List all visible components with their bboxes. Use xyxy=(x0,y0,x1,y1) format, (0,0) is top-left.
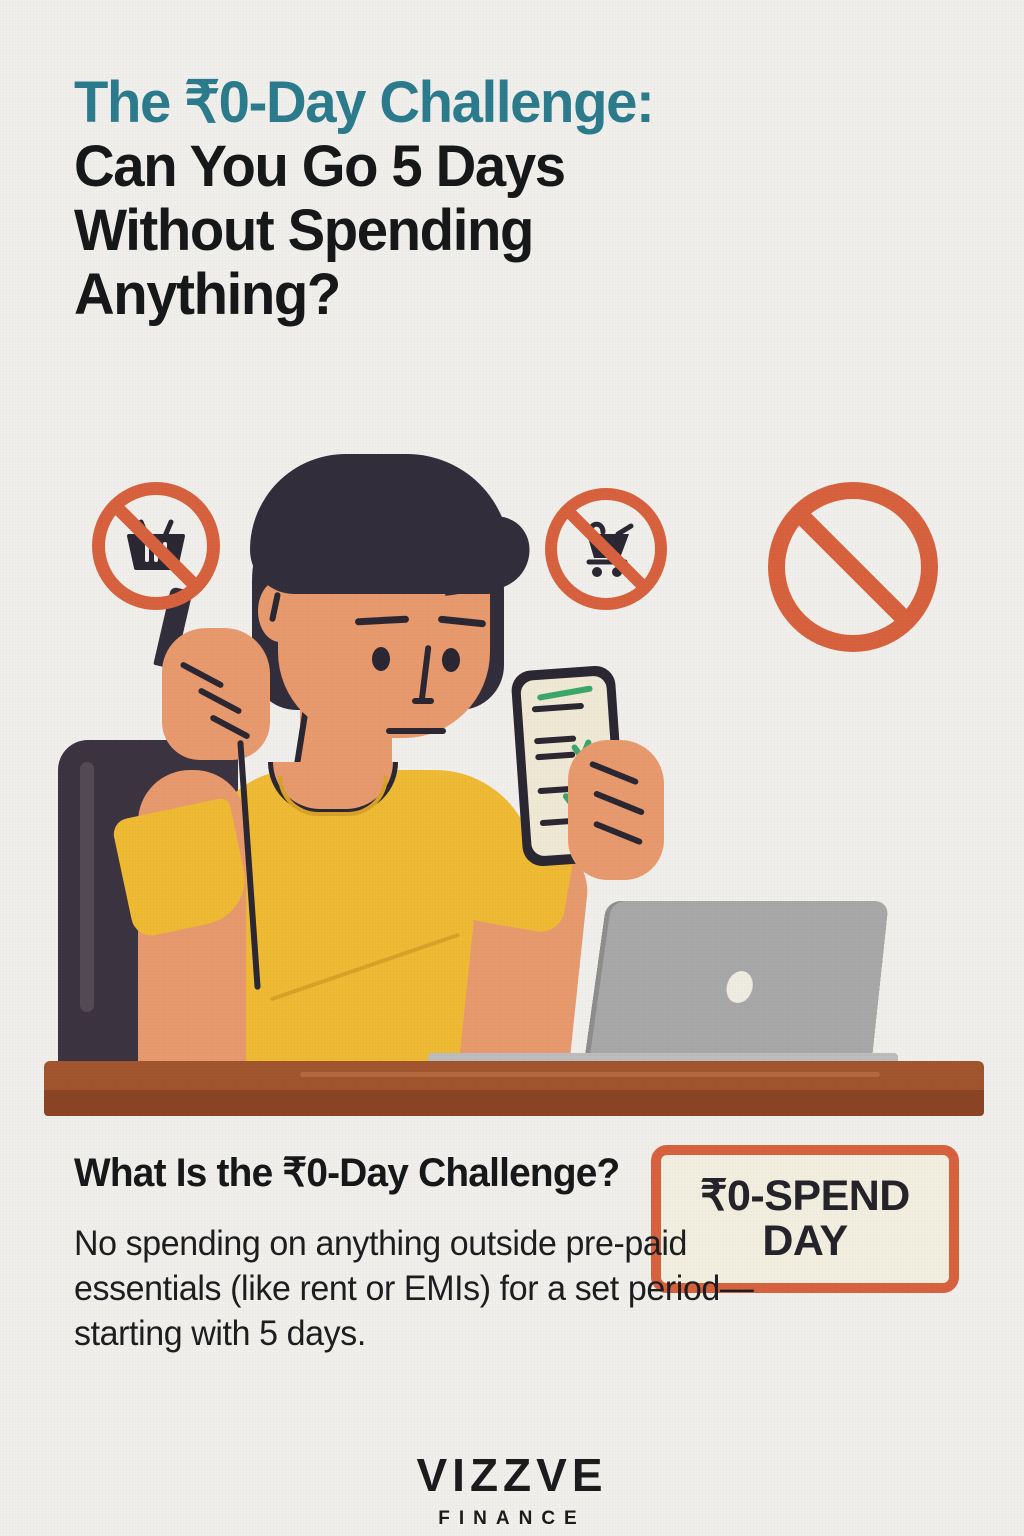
no-shopping-cart-icon xyxy=(545,488,667,610)
hero-illustration: ₹0-SPEND DAY xyxy=(0,440,1024,1140)
mouth xyxy=(386,728,446,734)
eye-right xyxy=(442,648,460,672)
checklist-row xyxy=(534,735,576,744)
no-entry-icon xyxy=(768,482,938,652)
desk-highlight xyxy=(300,1072,880,1077)
headline-line-3: Without Spending xyxy=(74,202,947,260)
checklist-highlight xyxy=(537,685,593,701)
hair-sweep xyxy=(435,512,534,596)
brand-footer: VIZZVE FINANCE xyxy=(0,1448,1024,1530)
body-line-3: starting with 5 days. xyxy=(74,1312,947,1357)
brand-tagline: FINANCE xyxy=(0,1508,1024,1530)
nose-base xyxy=(412,698,434,704)
checklist-row xyxy=(535,752,575,761)
prohibition-slash xyxy=(789,503,917,631)
no-shopping-basket-icon xyxy=(92,482,220,610)
brand-logo: VIZZVE xyxy=(0,1448,1024,1502)
headline-line-2: Can You Go 5 Days xyxy=(74,138,947,196)
explainer-section: What Is the ₹0-Day Challenge? No spendin… xyxy=(74,1150,974,1356)
body-line-1: No spending on anything outside pre-paid xyxy=(74,1222,947,1267)
page-title: The ₹0-Day Challenge: Can You Go 5 Days … xyxy=(74,74,974,330)
shirt-fold xyxy=(270,933,460,1002)
section-subheading: What Is the ₹0-Day Challenge? xyxy=(74,1150,947,1196)
infographic-stage: The ₹0-Day Challenge: Can You Go 5 Days … xyxy=(0,0,1024,1536)
headline-line-1: The ₹0-Day Challenge: xyxy=(74,74,947,132)
body-line-2: essentials (like rent or EMIs) for a set… xyxy=(74,1267,947,1312)
hand-left-fist xyxy=(162,628,270,760)
desk-edge xyxy=(44,1090,984,1116)
laptop-logo-icon xyxy=(725,971,755,1003)
headline-line-4: Anything? xyxy=(74,266,947,324)
laptop xyxy=(588,901,889,1069)
checklist-row xyxy=(532,703,584,713)
hand-right xyxy=(568,740,664,880)
eye-left xyxy=(372,647,390,671)
